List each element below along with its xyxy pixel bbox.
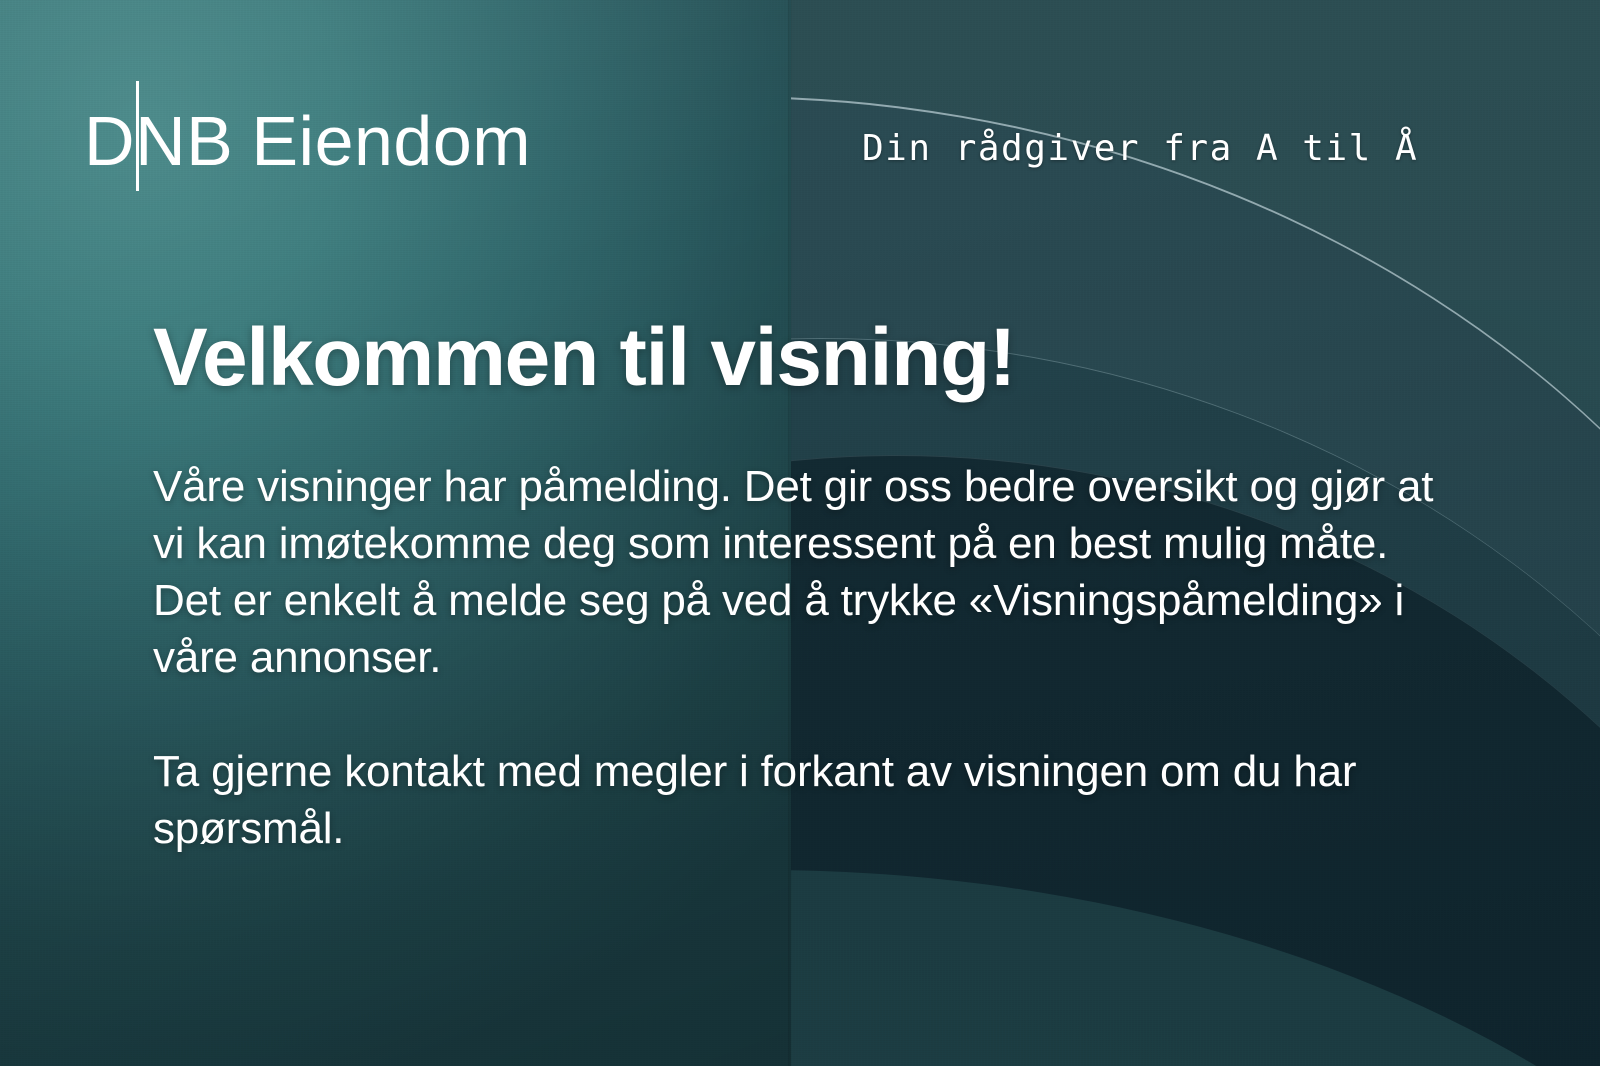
- logo-letter-d: D: [84, 106, 135, 176]
- logo-wordmark: Eiendom: [251, 106, 531, 176]
- body-paragraph-2: Ta gjerne kontakt med megler i forkant a…: [153, 743, 1453, 857]
- brand-tagline: Din rådgiver fra A til Å: [862, 128, 1418, 169]
- slide-body-copy: Våre visninger har påmelding. Det gir os…: [153, 458, 1453, 857]
- logo-letter-b: B: [186, 106, 233, 176]
- slide-headline: Velkommen til visning!: [153, 315, 1483, 400]
- logo-letter-n-mark: N: [135, 106, 186, 176]
- presentation-slide: D N B Eiendom Din rådgiver fra A til Å V…: [0, 0, 1600, 1066]
- body-paragraph-1: Våre visninger har påmelding. Det gir os…: [153, 458, 1453, 686]
- dnb-eiendom-logo: D N B Eiendom: [84, 106, 531, 176]
- slide-content: D N B Eiendom Din rådgiver fra A til Å V…: [0, 0, 1600, 1066]
- logo-letter-n: N: [135, 102, 186, 180]
